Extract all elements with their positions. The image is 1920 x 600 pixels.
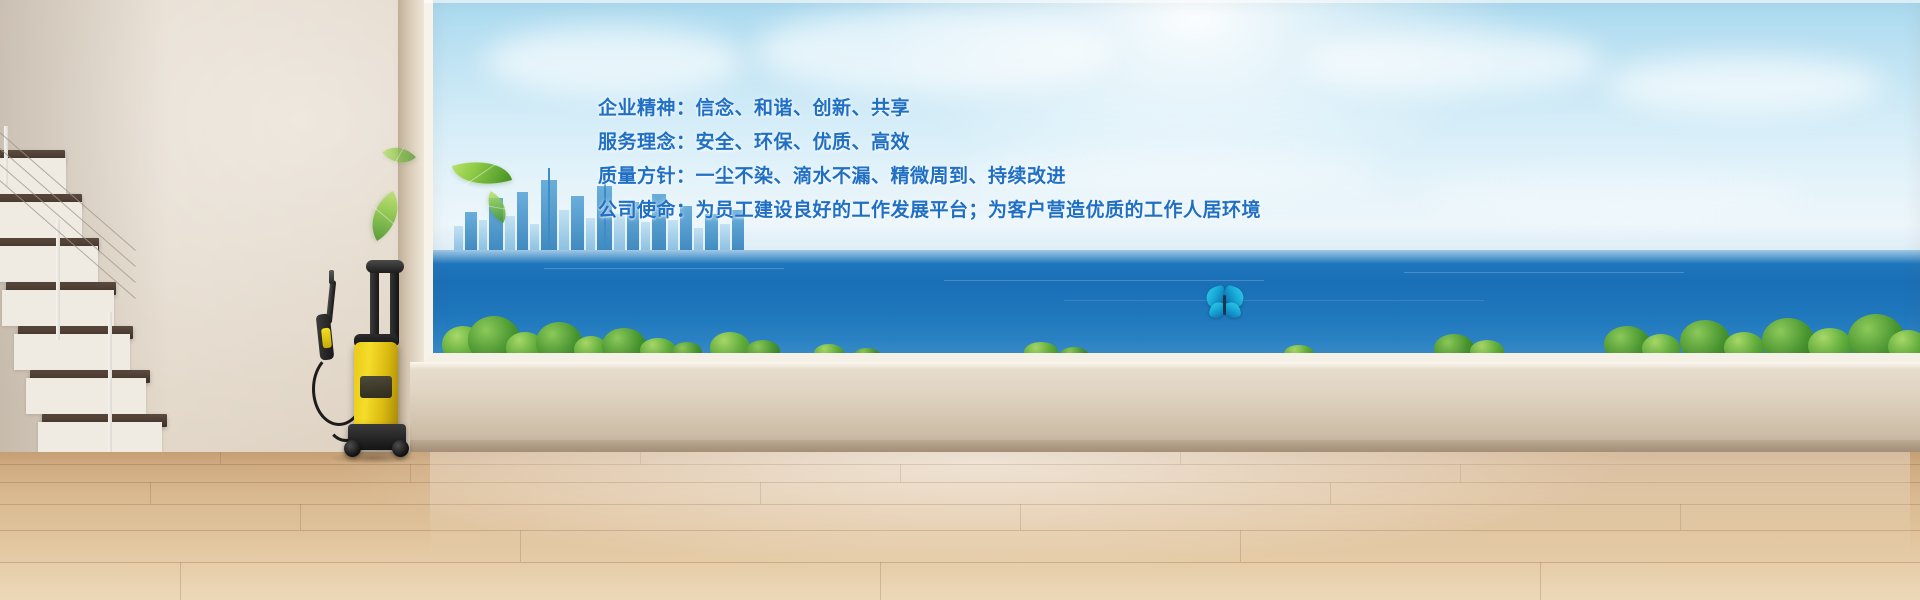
washer-nozzle bbox=[329, 270, 334, 284]
washer-control-panel bbox=[360, 376, 392, 398]
washer-handle-bar bbox=[366, 260, 404, 273]
washer-trigger bbox=[321, 328, 332, 349]
mission-line-quality-policy: 质量方针：一尘不染、滴水不漏、精微周到、持续改进 bbox=[598, 160, 1298, 194]
mission-line-service-concept: 服务理念：安全、环保、优质、高效 bbox=[598, 126, 1298, 160]
mission-text-block: 企业精神：信念、和谐、创新、共享 服务理念：安全、环保、优质、高效 质量方针：一… bbox=[598, 92, 1298, 228]
mission-line-company-mission: 公司使命：为员工建设良好的工作发展平台；为客户营造优质的工作人居环境 bbox=[598, 194, 1298, 228]
company-culture-banner: 企业精神：信念、和谐、创新、共享 服务理念：安全、环保、优质、高效 质量方针：一… bbox=[0, 0, 1920, 600]
washer-wheel-right bbox=[392, 440, 409, 457]
pressure-washer bbox=[308, 256, 424, 460]
mission-line-corporate-spirit: 企业精神：信念、和谐、创新、共享 bbox=[598, 92, 1298, 126]
washer-wheel-left bbox=[344, 440, 361, 457]
floating-leaves bbox=[0, 0, 1920, 600]
